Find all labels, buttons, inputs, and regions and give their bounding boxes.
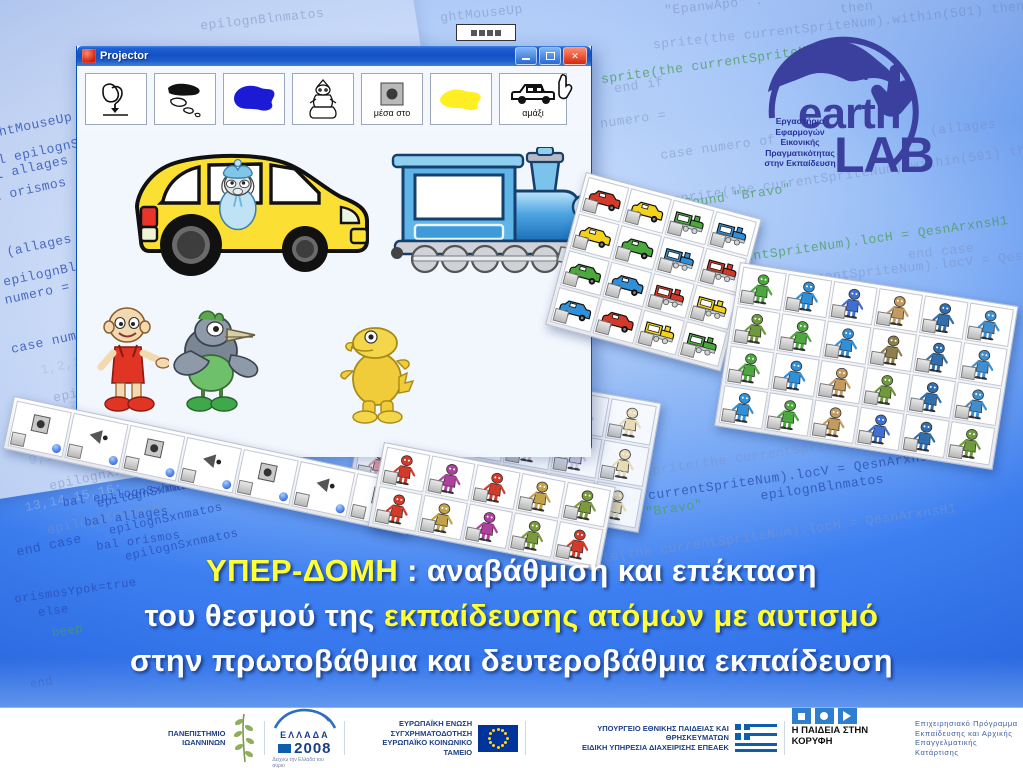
window-title: Projector <box>100 50 148 62</box>
eu-flag-icon <box>478 725 518 752</box>
greek-flag-icon <box>735 724 777 752</box>
projector-toolbar[interactable]: μέσα στο αμάξι <box>77 66 591 131</box>
hand-press-tool[interactable] <box>85 73 147 125</box>
character-thumbnail[interactable] <box>719 385 768 429</box>
operational-programme-label: Επιχειρησιακό Πρόγραμμα Εκπαίδευσης και … <box>915 719 1023 757</box>
thumb-badge-icon <box>600 465 616 480</box>
thumb-badge-icon <box>740 290 756 305</box>
thumb-badge-icon <box>721 408 737 423</box>
yellow-car[interactable] <box>127 145 377 285</box>
footer-divider-2 <box>344 721 345 755</box>
character-thumbnail-faded[interactable] <box>597 440 649 487</box>
filmstrip-thumb-icon <box>123 456 139 472</box>
filmstrip-thumb-icon <box>10 431 26 447</box>
thumb-badge-icon <box>733 329 749 344</box>
character-thumbnail[interactable] <box>861 367 910 411</box>
ellada-2008-logo: ΕΛΛΑΔΑ 2008 Δείχνω την Ελλάδα του αύριο <box>272 708 337 768</box>
university-of-ioannina-logo: ΠΑΝΕΠΙΣΤΗΜΙΟ ΙΩΑΝΝΙΝΩΝ <box>168 708 257 768</box>
character-thumbnail[interactable] <box>946 421 995 465</box>
olive-branch-icon <box>231 712 257 764</box>
character-thumbnail[interactable] <box>770 353 819 397</box>
thumb-badge-icon <box>824 344 840 359</box>
thumb-badge-icon <box>657 257 674 273</box>
cursor-tooltip <box>456 24 516 41</box>
character-thumbnail[interactable] <box>867 328 916 372</box>
eu-star <box>497 728 500 731</box>
headline-line-2-pre: του θεσμού της <box>145 598 384 633</box>
snowman-figure[interactable] <box>292 73 354 125</box>
paideia-stin-korifi-label: Η ΠΑΙΔΕΙΑ ΣΤΗΝ ΚΟΡΥΦΗ <box>792 725 911 747</box>
thumb-badge-icon <box>954 405 970 420</box>
character-thumbnail-red[interactable] <box>470 464 520 510</box>
thumb-badge-icon <box>967 326 983 341</box>
inside-preposition-tile[interactable]: μέσα στο <box>361 73 423 125</box>
character-thumbnail[interactable] <box>855 407 904 451</box>
car-noun-label: αμάξι <box>522 108 544 118</box>
ellada-swoosh-icon <box>273 708 337 730</box>
thumb-badge-icon <box>473 487 489 502</box>
presentation-slide: ghtMouseUpbal epilognSxhmatosbal allages… <box>0 0 1023 768</box>
filmstrip-thumb-icon <box>350 504 366 520</box>
thumb-badge-icon <box>382 470 398 485</box>
thumb-badge-icon <box>961 365 977 380</box>
thumb-badge-icon <box>690 305 707 321</box>
thumb-badge-icon <box>552 456 568 471</box>
yellow-scribble-swatch[interactable] <box>430 73 492 125</box>
university-of-ioannina-label: ΠΑΝΕΠΙΣΤΗΜΙΟ ΙΩΑΝΝΙΝΩΝ <box>168 729 225 748</box>
thumb-badge-icon <box>552 308 569 324</box>
thumb-badge-icon <box>909 397 925 412</box>
thumb-badge-icon <box>582 198 599 214</box>
character-thumbnail[interactable] <box>828 281 877 325</box>
thumb-badge-icon <box>647 294 664 310</box>
preposition-glyph-icon <box>84 423 110 449</box>
eu-star <box>504 732 507 735</box>
character-thumbnail-red[interactable] <box>561 482 611 528</box>
ellada-tagline: Δείχνω την Ελλάδα του αύριο <box>272 757 337 768</box>
character-thumbnail[interactable] <box>907 374 956 418</box>
marker-dot-icon <box>165 467 176 478</box>
ellada-label: ΕΛΛΑΔΑ <box>280 730 329 740</box>
eu-star <box>489 732 492 735</box>
character-thumbnail[interactable] <box>809 399 858 443</box>
character-thumbnail[interactable] <box>958 342 1007 386</box>
window-controls[interactable]: ✕ <box>515 47 588 65</box>
ellada-year: 2008 <box>294 740 331 757</box>
circle-icon <box>815 708 834 724</box>
projector-stage[interactable] <box>77 131 591 457</box>
eu-star <box>497 746 500 749</box>
thumb-badge-icon <box>700 269 717 285</box>
thumb-badge-icon <box>572 234 589 250</box>
filmstrip-cell-in[interactable]: IN <box>8 401 72 458</box>
blue-scribble-swatch[interactable] <box>223 73 285 125</box>
eu-star <box>488 737 491 740</box>
black-scribble-swatch[interactable] <box>154 73 216 125</box>
thumb-badge-icon <box>766 415 782 430</box>
filmstrip-thumb-icon <box>180 468 196 484</box>
eu-star <box>492 744 495 747</box>
character-thumbnail-red[interactable] <box>515 473 565 519</box>
marker-dot-icon <box>221 479 232 490</box>
eu-star <box>489 741 492 744</box>
filmstrip-thumb-icon <box>294 492 310 508</box>
filmstrip-cell-up[interactable]: UP <box>178 437 242 494</box>
korifi-icons <box>792 708 857 724</box>
footer-divider-4 <box>784 721 785 755</box>
character-thumbnail[interactable] <box>919 295 968 339</box>
operational-programme-logo: Επιχειρησιακό Πρόγραμμα Εκπαίδευσης και … <box>915 708 1023 768</box>
slide-headline: ΥΠΕΡ-ΔΟΜΗ : αναβάθμιση και επέκταση του … <box>0 548 1023 683</box>
thumb-badge-icon <box>465 526 481 541</box>
filmstrip-cell-on[interactable]: ON <box>64 413 128 470</box>
character-thumbnail[interactable] <box>822 320 871 364</box>
eu-star <box>492 729 495 732</box>
filmstrip-cell-behind[interactable]: BEHIND <box>234 449 298 506</box>
character-thumbnail[interactable] <box>737 267 786 311</box>
dinosaur-character[interactable] <box>335 321 417 425</box>
epeaek-logo: Η ΠΑΙΔΕΙΑ ΣΤΗΝ ΚΟΡΥΦΗ <box>792 708 911 768</box>
thumb-badge-icon <box>605 282 622 298</box>
character-thumbnail-red[interactable] <box>425 455 475 501</box>
thumb-badge-icon <box>595 319 612 335</box>
ministry-of-education-logo: ΥΠΟΥΡΓΕΙΟ ΕΘΝΙΚΗΣ ΠΑΙΔΕΙΑΣ ΚΑΙ ΘΡΗΣΚΕΥΜΑ… <box>533 708 777 768</box>
marker-dot-icon <box>278 491 289 502</box>
thumb-badge-icon <box>637 331 654 347</box>
character-thumbnail[interactable] <box>900 414 949 458</box>
thumb-badge-icon <box>915 358 931 373</box>
thumb-badge-icon <box>518 496 534 511</box>
thumb-badge-icon <box>420 518 436 533</box>
filmstrip-cell-unter[interactable]: UNTER <box>121 425 185 482</box>
character-thumbnail[interactable] <box>777 313 826 357</box>
thumb-badge-icon <box>831 304 847 319</box>
thumb-badge-icon <box>667 220 684 236</box>
character-thumbnail-red[interactable] <box>463 504 513 550</box>
character-thumbnail[interactable] <box>764 392 813 436</box>
thumb-badge-icon <box>773 376 789 391</box>
character-thumbnail[interactable] <box>913 335 962 379</box>
thumb-badge-icon <box>709 232 726 248</box>
eu-star <box>506 737 509 740</box>
thumb-badge-icon <box>921 318 937 333</box>
car-noun-tile[interactable]: αμάξι <box>499 73 567 125</box>
headline-line-2-keyword: εκπαίδευσης ατόμων με αυτισμό <box>384 598 878 633</box>
earthlab-logo-subtitle: Εργαστήριο Εφαρμογών Εικονικής Πραγματικ… <box>744 116 856 169</box>
blue-train[interactable] <box>385 147 591 279</box>
character-thumbnail-red[interactable] <box>417 495 467 541</box>
ministry-of-education-label: ΥΠΟΥΡΓΕΙΟ ΕΘΝΙΚΗΣ ΠΑΙΔΕΙΑΣ ΚΑΙ ΘΡΗΣΚΕΥΜΑ… <box>533 724 729 753</box>
eu-star <box>504 741 507 744</box>
app-icon <box>82 49 96 63</box>
inside-preposition-label: μέσα στο <box>374 108 410 118</box>
character-thumbnail-red[interactable] <box>380 447 430 493</box>
close-icon[interactable]: ✕ <box>563 47 587 65</box>
window-titlebar[interactable]: Projector ✕ <box>77 46 591 66</box>
character-thumbnail[interactable] <box>783 274 832 318</box>
thumb-badge-icon <box>375 509 391 524</box>
tooltip-marks <box>471 30 501 36</box>
marker-dot-icon <box>335 503 346 514</box>
thumb-badge-icon <box>607 423 623 438</box>
character-thumbnail[interactable] <box>816 360 865 404</box>
bird-character[interactable] <box>169 307 269 417</box>
thumb-badge-icon <box>563 505 579 520</box>
thumb-badge-icon <box>427 478 443 493</box>
boy-character[interactable] <box>97 305 169 415</box>
filmstrip-cell-front[interactable]: FRONT <box>291 461 355 518</box>
projector-window[interactable]: Projector ✕ <box>76 46 592 451</box>
filmstrip-thumb-icon <box>237 480 253 496</box>
marker-dot-icon <box>51 443 62 454</box>
european-union-label: ΕΥΡΩΠΑΪΚΗ ΕΝΩΣΗ ΣΥΓΧΡΗΜΑΤΟΔΟΤΗΣΗ ΕΥΡΩΠΑΪ… <box>352 719 472 757</box>
square-icon <box>792 708 811 724</box>
preposition-glyph-icon <box>28 411 54 437</box>
maximize-button[interactable] <box>539 47 561 65</box>
character-thumbnail[interactable] <box>731 306 780 350</box>
thumb-badge-icon <box>863 390 879 405</box>
character-thumbnail-red[interactable] <box>372 486 422 532</box>
eu-mini-flag <box>278 744 291 753</box>
thumb-badge-icon <box>812 423 828 438</box>
preposition-glyph-icon <box>198 447 224 473</box>
footer-divider-3 <box>525 721 526 755</box>
headline-line-1: ΥΠΕΡ-ΔΟΜΗ : αναβάθμιση και επέκταση <box>0 548 1023 593</box>
preposition-glyph-icon <box>141 435 167 461</box>
headline-line-1-rest: : αναβάθμιση και επέκταση <box>398 553 817 588</box>
thumb-badge-icon <box>857 430 873 445</box>
headline-line-3: στην πρωτοβάθμια και δευτεροβάθμια εκπαί… <box>0 638 1023 683</box>
thumb-badge-icon <box>785 297 801 312</box>
character-thumbnail[interactable] <box>725 346 774 390</box>
footer-divider <box>264 721 265 755</box>
thumb-badge-icon <box>727 369 743 384</box>
thumb-badge-icon <box>948 444 964 459</box>
thumb-badge-icon <box>876 311 892 326</box>
footer-logos-bar: ΠΑΝΕΠΙΣΤΗΜΙΟ ΙΩΑΝΝΙΝΩΝ <box>0 707 1023 768</box>
thumb-badge-icon <box>870 351 886 366</box>
preposition-glyph-icon <box>311 471 337 497</box>
filmstrip-thumb-icon <box>67 444 83 460</box>
marker-dot-icon <box>108 455 119 466</box>
headline-keyword: ΥΠΕΡ-ΔΟΜΗ <box>206 553 398 588</box>
character-thumbnail-faded[interactable] <box>605 398 657 445</box>
european-union-logo: ΕΥΡΩΠΑΪΚΗ ΕΝΩΣΗ ΣΥΓΧΡΗΜΑΤΟΔΟΤΗΣΗ ΕΥΡΩΠΑΪ… <box>352 708 518 768</box>
eu-star <box>501 744 504 747</box>
character-thumbnail[interactable] <box>965 303 1014 347</box>
preposition-glyph-icon <box>255 459 281 485</box>
thumb-badge-icon <box>615 246 632 262</box>
minimize-button[interactable] <box>515 47 537 65</box>
thumb-badge-icon <box>562 271 579 287</box>
thumb-badge-icon <box>680 342 697 358</box>
character-thumbnail[interactable] <box>874 288 923 332</box>
thumb-badge-icon <box>903 437 919 452</box>
thumb-badge-icon <box>624 209 641 225</box>
headline-line-2: του θεσμού της εκπαίδευσης ατόμων με αυτ… <box>0 593 1023 638</box>
thumb-badge-icon <box>779 336 795 351</box>
character-thumbnail[interactable] <box>952 382 1001 426</box>
thumb-badge-icon <box>818 383 834 398</box>
play-icon <box>838 708 857 724</box>
